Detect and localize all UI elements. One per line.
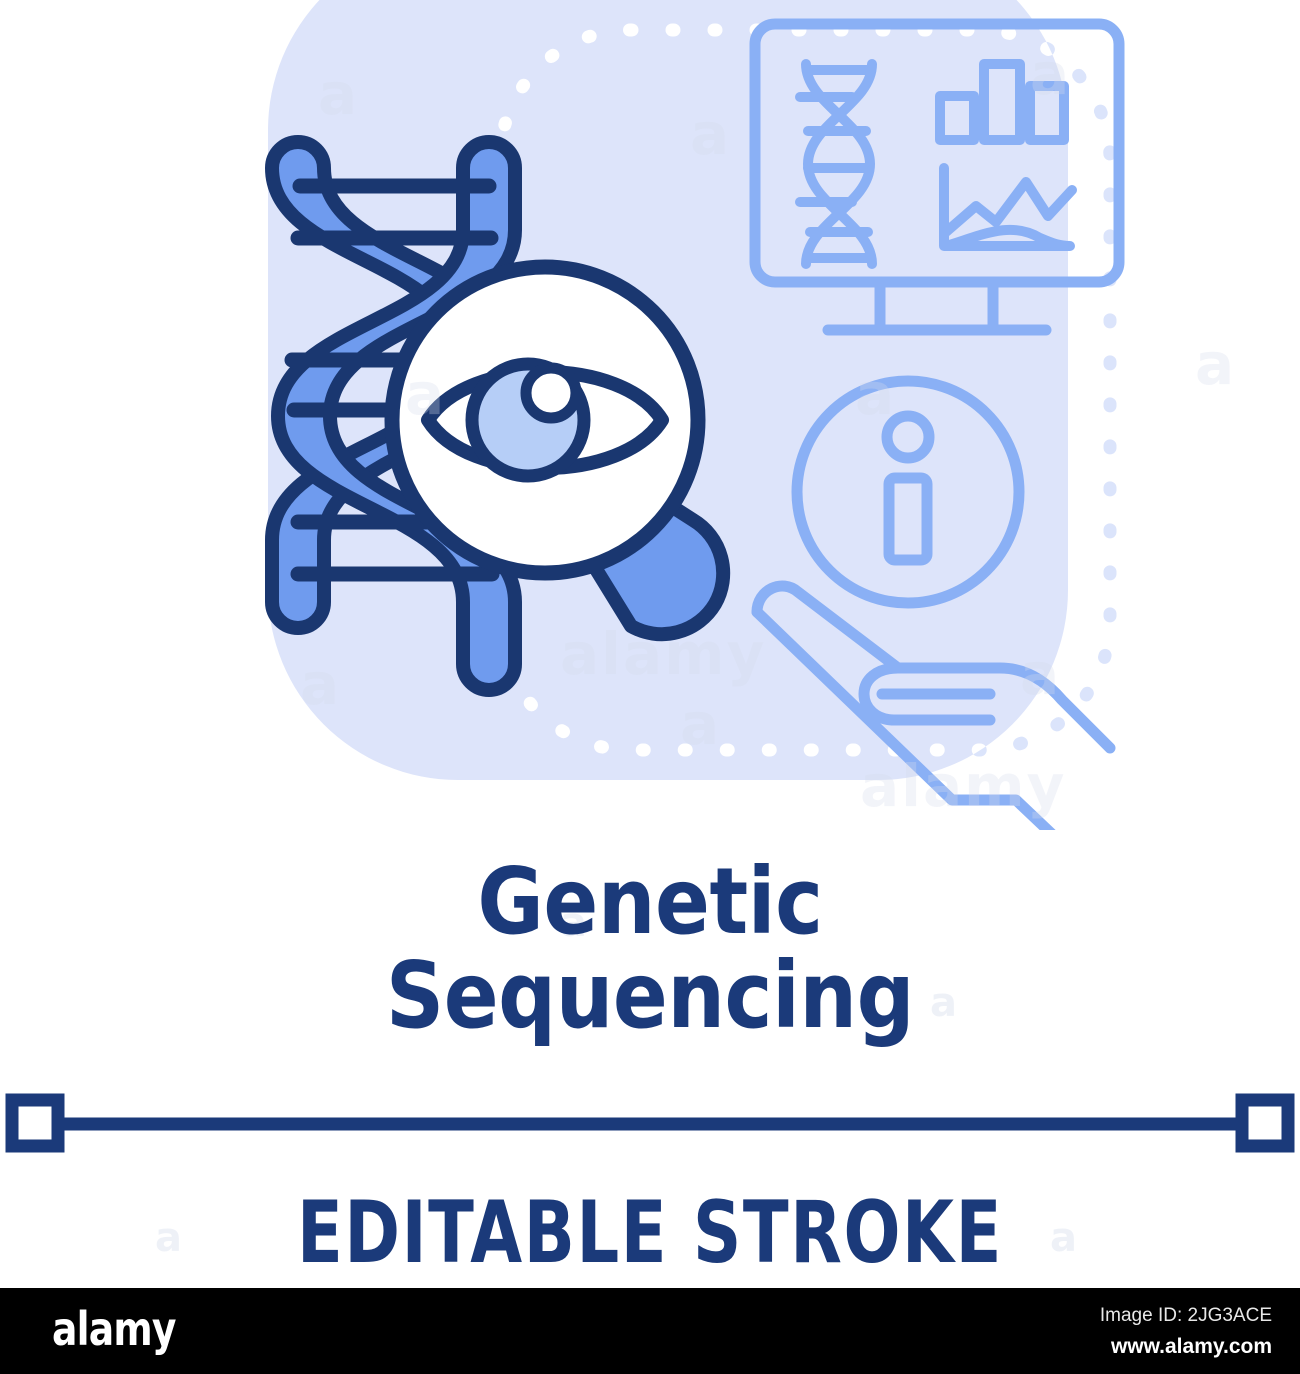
stroke-handle-left-icon: [12, 1100, 58, 1146]
monitor-dna-strand-icon: [800, 64, 872, 264]
concept-title: Genetic Sequencing: [0, 855, 1300, 1043]
alamy-footer-bar: alamy Image ID: 2JG3ACE www.alamy.com: [0, 1288, 1300, 1374]
image-id-label: Image ID: 2JG3ACE: [1100, 1302, 1272, 1331]
footer-meta: Image ID: 2JG3ACE www.alamy.com: [1100, 1302, 1272, 1362]
editable-stroke-label: EDITABLE STROKE: [143, 1183, 1157, 1283]
illustration-area: [0, 0, 1300, 830]
alamy-url-label[interactable]: www.alamy.com: [1100, 1331, 1272, 1363]
eye-highlight: [526, 368, 576, 418]
alamy-logo: alamy: [52, 1302, 176, 1356]
concept-icon-canvas: a a a a a a a a a a a a a alamy alamy Ge…: [0, 0, 1300, 1374]
title-line-2: Sequencing: [78, 949, 1222, 1043]
magnifier-eye-icon: [392, 267, 698, 573]
stroke-handle-right-icon: [1242, 1100, 1288, 1146]
title-line-1: Genetic: [78, 855, 1222, 949]
editable-stroke-indicator: [0, 1088, 1300, 1168]
